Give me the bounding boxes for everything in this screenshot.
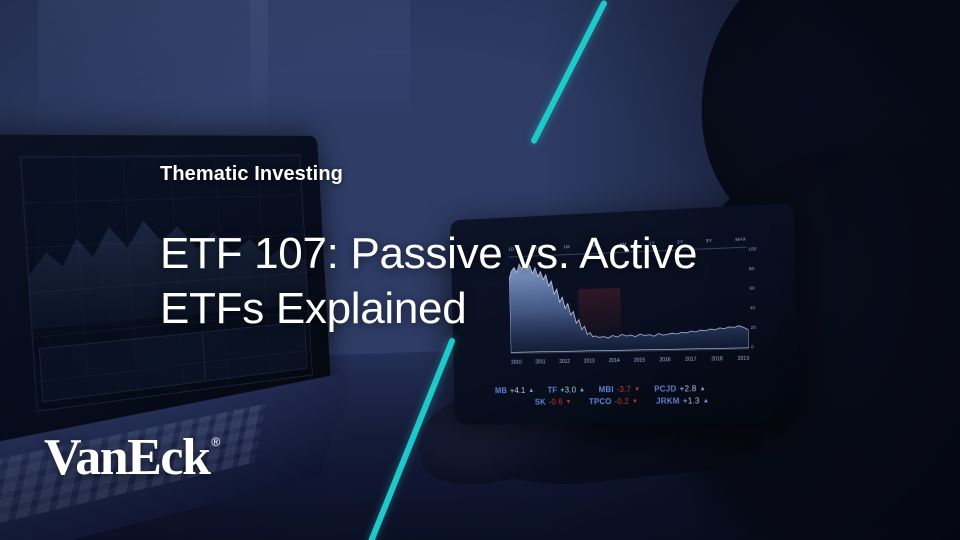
eyebrow-label: Thematic Investing: [160, 163, 343, 186]
registered-trademark-icon: ®: [211, 436, 220, 448]
slide-canvas: 1D1W1M3M6M1Y2Y5YMAX: [0, 0, 960, 540]
page-title: ETF 107: Passive vs. Active ETFs Explain…: [160, 226, 760, 336]
vaneck-logo[interactable]: VanEck ®: [44, 432, 220, 484]
logo-wordmark: VanEck: [44, 432, 209, 484]
